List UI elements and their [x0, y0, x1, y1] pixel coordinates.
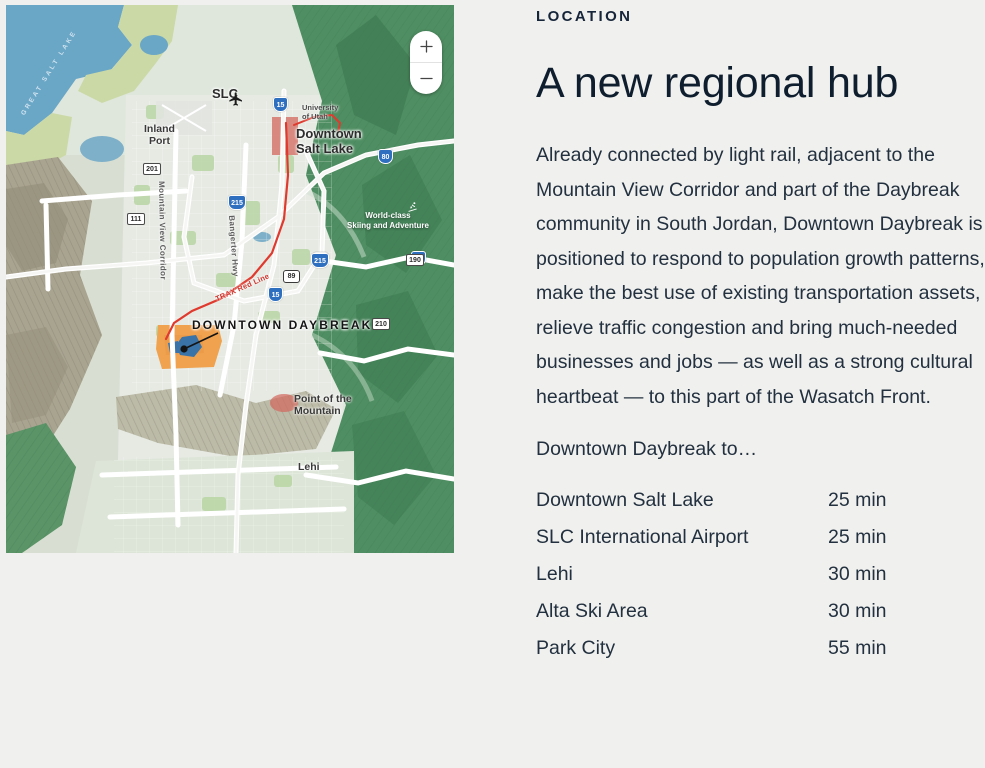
highway-shield-sr111: 111 — [127, 213, 145, 225]
highway-shield-sr201: 201 — [143, 163, 161, 175]
airplane-icon — [228, 91, 244, 112]
travel-times-body: Downtown Salt Lake 25 min SLC Internatio… — [536, 489, 916, 674]
page-title: A new regional hub — [536, 61, 985, 106]
table-row: Park City 55 min — [536, 637, 916, 674]
map-panel[interactable]: GREAT SALT LAKE Inland Port SLC Universi… — [6, 5, 454, 553]
travel-time-duration: 25 min — [828, 489, 916, 526]
travel-time-place: Downtown Salt Lake — [536, 489, 828, 526]
map-base-layer — [6, 5, 454, 553]
zoom-out-button[interactable] — [410, 62, 442, 94]
minus-icon — [420, 72, 433, 85]
location-section: GREAT SALT LAKE Inland Port SLC Universi… — [0, 0, 985, 768]
highway-shield-i215-east: 215 — [311, 253, 329, 268]
travel-time-duration: 30 min — [828, 600, 916, 637]
highway-shield-i80-north: 80 — [378, 149, 393, 164]
travel-time-duration: 55 min — [828, 637, 916, 674]
body-paragraph: Already connected by light rail, adjacen… — [536, 138, 985, 414]
highway-shield-i15-north: 15 — [273, 97, 288, 112]
highway-shield-sr190: 190 — [406, 254, 424, 266]
travel-time-place: Park City — [536, 637, 828, 674]
table-row: Downtown Salt Lake 25 min — [536, 489, 916, 526]
travel-time-duration: 30 min — [828, 563, 916, 600]
map-zoom-control[interactable] — [410, 31, 442, 94]
map-canvas[interactable]: GREAT SALT LAKE Inland Port SLC Universi… — [6, 5, 454, 553]
travel-time-place: Lehi — [536, 563, 828, 600]
travel-time-place: Alta Ski Area — [536, 600, 828, 637]
travel-time-place: SLC International Airport — [536, 526, 828, 563]
skier-icon — [406, 201, 419, 219]
location-content: LOCATION A new regional hub Already conn… — [536, 0, 985, 768]
highway-shield-i15-south: 15 — [268, 287, 283, 302]
table-row: Lehi 30 min — [536, 563, 916, 600]
highway-shield-i215-west: 215 — [228, 195, 246, 210]
plus-icon — [420, 40, 433, 53]
travel-time-duration: 25 min — [828, 526, 916, 563]
highway-shield-sr210: 210 — [372, 318, 390, 330]
zoom-in-button[interactable] — [410, 31, 442, 62]
travel-times-table: Downtown Salt Lake 25 min SLC Internatio… — [536, 489, 916, 674]
section-eyebrow: LOCATION — [536, 8, 985, 25]
table-row: Alta Ski Area 30 min — [536, 600, 916, 637]
table-row: SLC International Airport 25 min — [536, 526, 916, 563]
travel-times-subhead: Downtown Daybreak to… — [536, 438, 985, 461]
highway-shield-us89: 89 — [283, 270, 300, 283]
